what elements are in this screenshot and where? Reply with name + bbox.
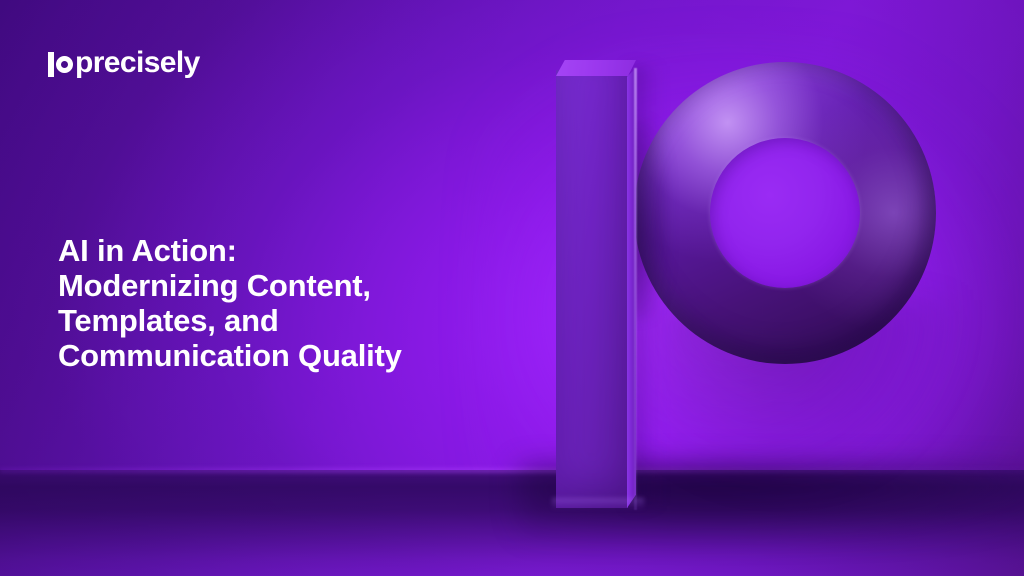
rectangular-slab: [556, 60, 636, 508]
headline-line-3: Templates, and: [58, 303, 548, 338]
slab-front-face: [556, 70, 628, 508]
slab-top-face: [556, 60, 636, 76]
precisely-p-mark-icon: [48, 46, 73, 77]
slab-base-glow: [552, 498, 644, 510]
p-mark-stem: [48, 52, 54, 77]
p-mark-ring: [56, 56, 73, 73]
page-title: AI in Action: Modernizing Content, Templ…: [58, 233, 548, 373]
headline-line-1: AI in Action:: [58, 233, 548, 268]
headline-line-4: Communication Quality: [58, 338, 548, 373]
slide-canvas: precisely AI in Action: Modernizing Cont…: [0, 0, 1024, 576]
precisely-logo: precisely: [48, 45, 200, 77]
torus-ring: [634, 62, 936, 364]
headline-line-2: Modernizing Content,: [58, 268, 548, 303]
logo-wordmark: precisely: [75, 48, 200, 78]
ring-inner-hole: [710, 138, 860, 288]
slab-edge-highlight: [634, 68, 637, 510]
